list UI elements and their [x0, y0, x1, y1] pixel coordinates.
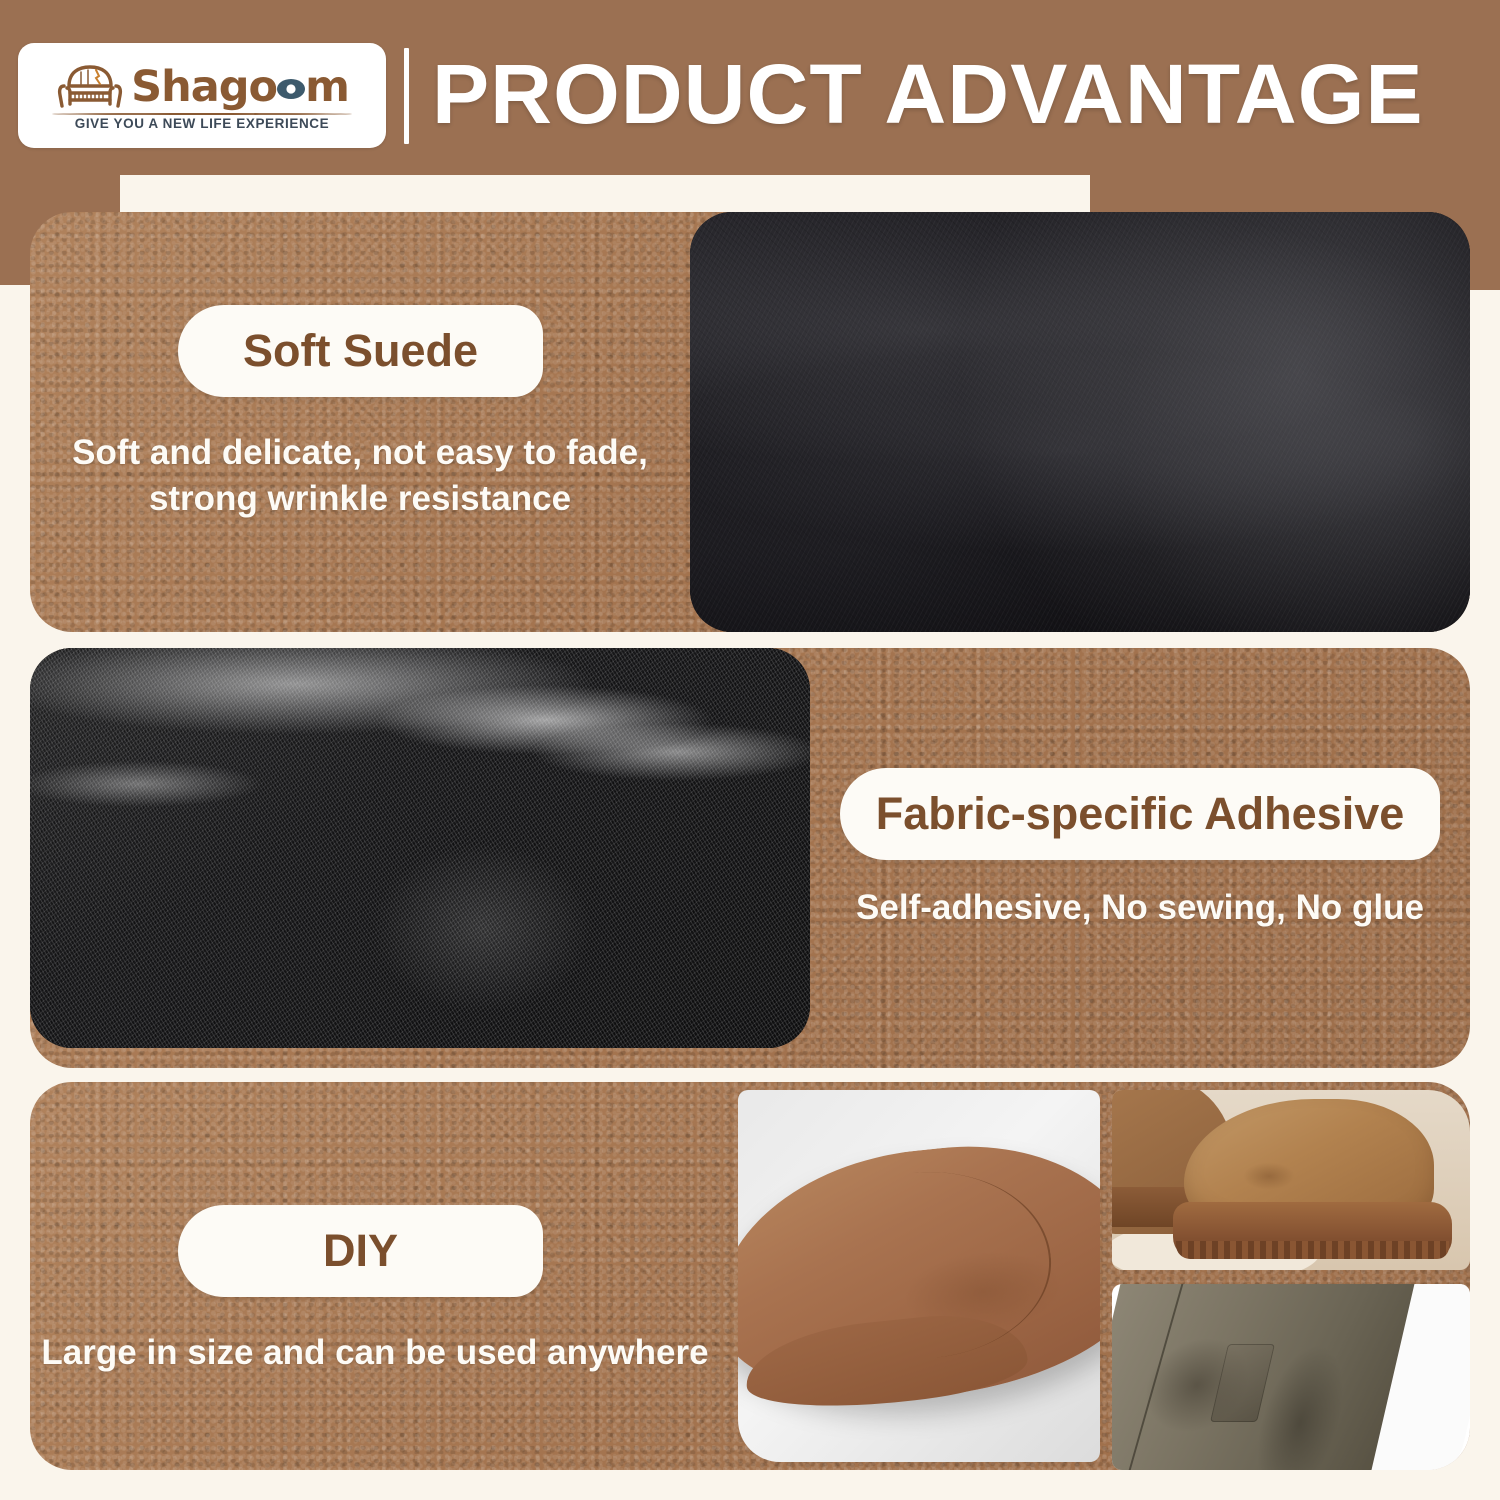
brand-wordmark: Shagom [131, 66, 349, 109]
page-title: PRODUCT ADVANTAGE [432, 38, 1500, 150]
title-divider [404, 48, 409, 144]
brand-divider-rule [52, 113, 352, 115]
fabric-fuzz-texture [30, 648, 810, 1048]
brand-logo-row: Shagom [55, 62, 349, 112]
label-pill-diy: DIY [178, 1205, 543, 1297]
description-fabric-specific-adhesive: Self-adhesive, No sewing, No glue [830, 885, 1450, 931]
black-suede-texture [690, 212, 1470, 632]
brand-tagline: GIVE YOU A NEW LIFE EXPERIENCE [75, 116, 330, 131]
photo-suede-jacket-sleeve [1112, 1284, 1470, 1470]
eye-logo-icon [276, 76, 306, 102]
photo-suede-flat-cap [738, 1090, 1100, 1462]
sofa-icon [55, 62, 125, 112]
photo-suede-platform-boots [1112, 1090, 1470, 1270]
description-diy: Large in size and can be used anywhere [30, 1330, 720, 1376]
boot-tread [1176, 1241, 1448, 1259]
label-pill-soft-suede: Soft Suede [178, 305, 543, 397]
description-soft-suede: Soft and delicate, not easy to fade, str… [40, 430, 680, 522]
brand-logo-plate[interactable]: Shagom GIVE YOU A NEW LIFE EXPERIENCE [18, 43, 386, 148]
photo-black-suede-fabric [690, 212, 1470, 632]
label-pill-fabric-specific-adhesive: Fabric-specific Adhesive [840, 768, 1440, 860]
photo-fabric-adhesive-backing [30, 648, 810, 1048]
